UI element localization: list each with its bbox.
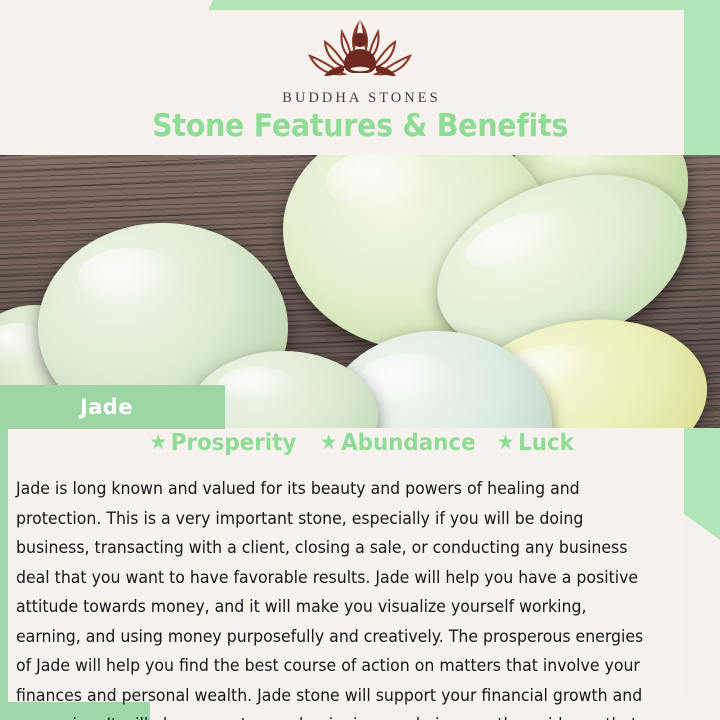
keyword-luck: ★Luck xyxy=(497,430,574,456)
brand-wordmark: BUDDHA STONES xyxy=(0,90,720,107)
keyword-list: ★Prosperity ★Abundance ★Luck xyxy=(0,430,720,456)
keyword-prosperity: ★Prosperity xyxy=(149,430,296,456)
star-icon: ★ xyxy=(497,430,515,454)
keyword-label: Prosperity xyxy=(170,430,296,456)
lotus-meditation-icon xyxy=(294,14,426,88)
keyword-abundance: ★Abundance xyxy=(320,430,476,456)
stone-name-banner: Jade xyxy=(0,385,225,429)
star-icon: ★ xyxy=(149,430,167,454)
keyword-label: Luck xyxy=(518,430,574,456)
stone-name-label: Jade xyxy=(80,395,133,419)
product-info-card: BUDDHA STONES Stone Features & Benefits … xyxy=(0,0,720,720)
stone-description: Jade is long known and valued for its be… xyxy=(16,475,647,720)
keyword-label: Abundance xyxy=(341,430,475,456)
brand-logo: BUDDHA STONES xyxy=(0,14,720,107)
star-icon: ★ xyxy=(320,430,338,454)
page-title: Stone Features & Benefits xyxy=(152,108,568,144)
headline-container: Stone Features & Benefits xyxy=(0,108,720,144)
